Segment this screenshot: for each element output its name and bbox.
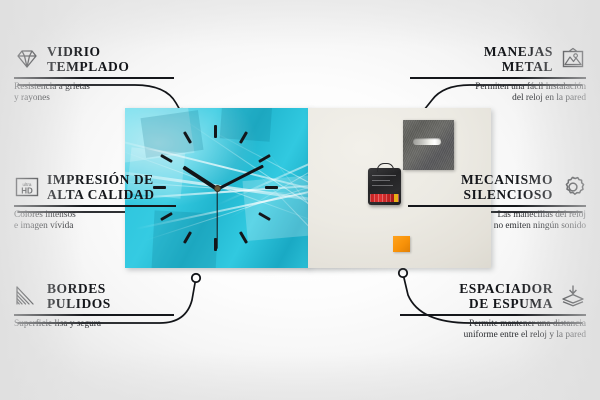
callout-rule bbox=[14, 205, 176, 207]
movement-hanger-loop bbox=[377, 163, 394, 172]
foam-spacer-part bbox=[393, 236, 410, 252]
clock-center-pin bbox=[214, 185, 221, 192]
quartz-movement bbox=[368, 168, 401, 205]
callout-rule bbox=[400, 314, 586, 316]
callout-title: MECANISMO SILENCIOSO bbox=[461, 172, 553, 202]
callout-manejas-metal[interactable]: MANEJAS METAL Permiten una fácil instala… bbox=[410, 44, 586, 105]
gear-icon bbox=[560, 175, 586, 199]
callout-subtitle: Permite mantener una distancia uniforme … bbox=[400, 319, 586, 342]
callout-title: IMPRESIÓN DE ALTA CALIDAD bbox=[47, 172, 155, 202]
battery-terminal bbox=[394, 194, 398, 202]
callout-title: MANEJAS METAL bbox=[484, 44, 553, 74]
callout-subtitle: Permiten una fácil instalación del reloj… bbox=[410, 82, 586, 105]
callout-subtitle: Colores intensos e imagen vívida bbox=[14, 210, 176, 233]
callout-subtitle: Superficie lisa y segura bbox=[14, 319, 174, 331]
callout-vidrio-templado[interactable]: VIDRIO TEMPLADO Resistencia a grietas y … bbox=[14, 44, 174, 105]
callout-title: BORDES PULIDOS bbox=[47, 281, 111, 311]
callout-title: ESPACIADOR DE ESPUMA bbox=[459, 281, 553, 311]
picture-hanger-icon bbox=[560, 47, 586, 71]
svg-text:HD: HD bbox=[21, 186, 33, 195]
callout-rule bbox=[14, 314, 174, 316]
callout-rule bbox=[14, 77, 174, 79]
callout-subtitle: Las manecillas del reloj no emiten ningú… bbox=[408, 210, 586, 233]
metal-hanger-plate bbox=[403, 120, 454, 170]
callout-rule bbox=[410, 77, 586, 79]
clock-hour-hand bbox=[182, 166, 218, 191]
callout-title: VIDRIO TEMPLADO bbox=[47, 44, 129, 74]
polished-edges-icon bbox=[14, 284, 40, 308]
clock-second-hand bbox=[216, 189, 217, 249]
foam-spacer-icon bbox=[560, 284, 586, 308]
callout-rule bbox=[408, 205, 586, 207]
infographic-canvas: VIDRIO TEMPLADO Resistencia a grietas y … bbox=[0, 0, 600, 400]
battery bbox=[370, 194, 399, 202]
callout-espaciador-espuma[interactable]: ESPACIADOR DE ESPUMA Permite mantener un… bbox=[400, 281, 586, 342]
callout-impresion-alta-calidad[interactable]: ultra HD IMPRESIÓN DE ALTA CALIDAD Color… bbox=[14, 172, 176, 233]
callout-bordes-pulidos[interactable]: BORDES PULIDOS Superficie lisa y segura bbox=[14, 281, 174, 330]
callout-subtitle: Resistencia a grietas y rayones bbox=[14, 82, 174, 105]
ultra-hd-icon: ultra HD bbox=[14, 175, 40, 199]
callout-mecanismo-silencioso[interactable]: MECANISMO SILENCIOSO Las manecillas del … bbox=[408, 172, 586, 233]
diamond-icon bbox=[14, 47, 40, 71]
hanger-slot bbox=[413, 138, 441, 145]
clock-minute-hand bbox=[216, 164, 264, 191]
